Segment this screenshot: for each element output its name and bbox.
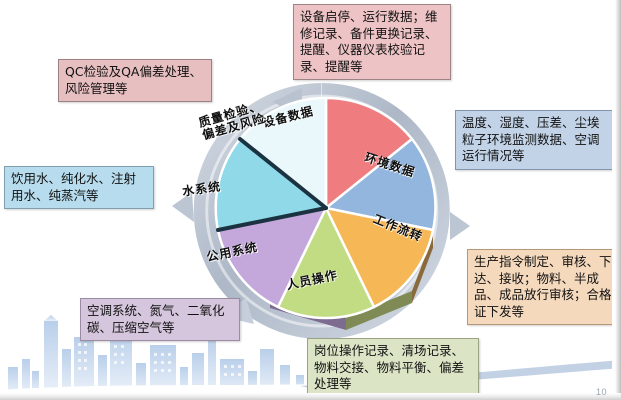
slide-canvas: 设备数据 环境数据 工作流转 人员操作 公用系统 水系统 质量检验、偏差及风险 … xyxy=(0,0,621,400)
callout-utility: 空调系统、氮气、二氧化碳、压缩空气等 xyxy=(80,298,240,341)
callout-qc: QC检验及QA偏差处理、风险管理等 xyxy=(58,59,212,102)
callout-environment: 温度、湿度、压差、尘埃粒子环境监测数据、空调运行情况等 xyxy=(455,110,615,170)
callout-workflow: 生产指令制定、审核、下达、接收；物料、半成品、成品放行审核；合格证下发等 xyxy=(467,249,619,325)
slide-right-edge xyxy=(612,0,621,400)
callout-personnel: 岗位操作记录、清场记录、物料交接、物料平衡、偏差处理等 xyxy=(307,338,479,398)
slide-bottom-edge xyxy=(0,393,621,400)
callout-water: 饮用水、纯化水、注射用水、纯蒸汽等 xyxy=(4,166,154,209)
callout-equipment: 设备启停、运行数据；维修记录、备件更换记录、提醒、仪器仪表校验记录、提醒等 xyxy=(293,4,451,80)
page-number: 10 xyxy=(596,387,607,397)
